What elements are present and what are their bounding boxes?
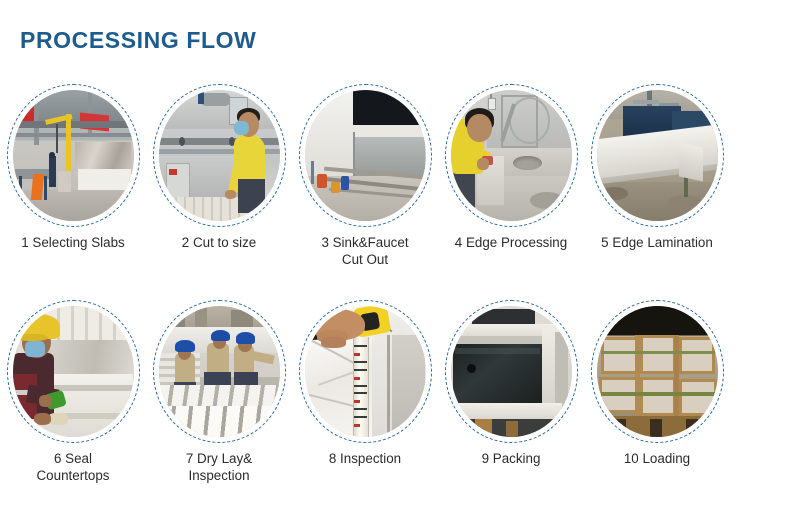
circle-frame-10 [591,300,724,443]
dashed-ring-7 [153,300,286,443]
dashed-ring-6 [7,300,140,443]
flow-step-10[interactable]: 10 Loading [584,300,730,484]
process-flow-row-2: 6 Seal Countertops 7 Dry Lay& Inspection [0,300,790,484]
flow-step-3-caption: 3 Sink&Faucet Cut Out [290,234,440,268]
circle-frame-5 [591,84,724,227]
dashed-ring-9 [445,300,578,443]
circle-frame-2 [153,84,286,227]
dashed-ring-3 [299,84,432,227]
circle-frame-9 [445,300,578,443]
dashed-ring-2 [153,84,286,227]
flow-step-6[interactable]: 6 Seal Countertops [0,300,146,484]
flow-step-10-caption: 10 Loading [582,450,732,467]
flow-step-2-caption: 2 Cut to size [144,234,294,251]
flow-step-4-caption: 4 Edge Processing [436,234,586,251]
flow-step-7-caption: 7 Dry Lay& Inspection [144,450,294,484]
flow-step-9-caption: 9 Packing [436,450,586,467]
dashed-ring-8 [299,300,432,443]
circle-frame-6 [7,300,140,443]
dashed-ring-10 [591,300,724,443]
circle-frame-7 [153,300,286,443]
process-flow-row-1: 1 Selecting Slabs 2 Cut to size [0,84,790,268]
flow-step-8-caption: 8 Inspection [290,450,440,467]
flow-step-3[interactable]: 3 Sink&Faucet Cut Out [292,84,438,268]
dashed-ring-1 [7,84,140,227]
flow-step-8[interactable]: 8 Inspection [292,300,438,484]
page-title: PROCESSING FLOW [20,27,256,54]
circle-frame-8 [299,300,432,443]
circle-frame-4 [445,84,578,227]
dashed-ring-5 [591,84,724,227]
dashed-ring-4 [445,84,578,227]
flow-step-5-caption: 5 Edge Lamination [582,234,732,251]
flow-step-2[interactable]: 2 Cut to size [146,84,292,268]
flow-step-1-caption: 1 Selecting Slabs [0,234,148,251]
flow-step-7[interactable]: 7 Dry Lay& Inspection [146,300,292,484]
flow-step-6-caption: 6 Seal Countertops [0,450,148,484]
flow-step-4[interactable]: 4 Edge Processing [438,84,584,268]
flow-step-5[interactable]: 5 Edge Lamination [584,84,730,268]
flow-step-9[interactable]: 9 Packing [438,300,584,484]
circle-frame-1 [7,84,140,227]
circle-frame-3 [299,84,432,227]
flow-step-1[interactable]: 1 Selecting Slabs [0,84,146,268]
